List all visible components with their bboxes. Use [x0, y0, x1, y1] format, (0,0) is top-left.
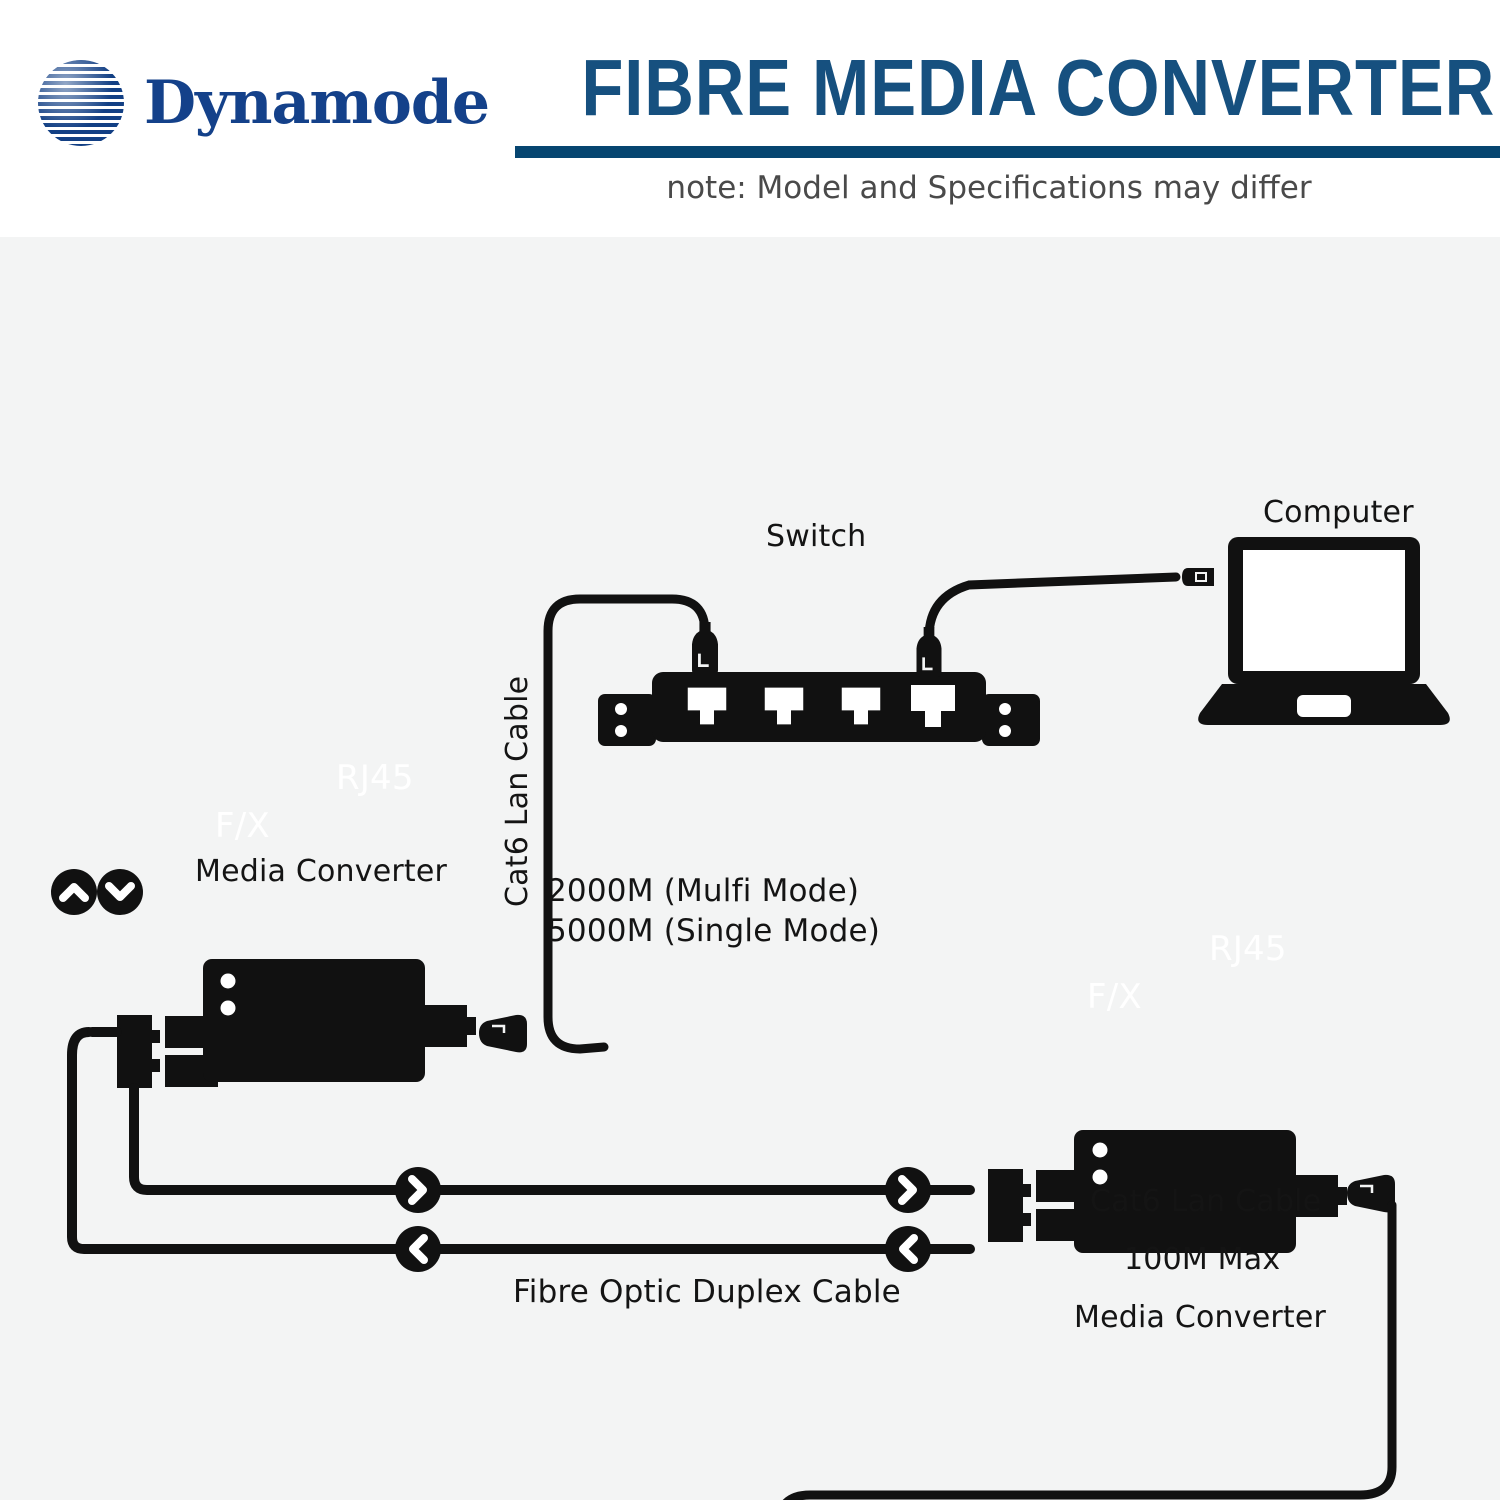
- flow-arrow-left-1: [395, 1226, 441, 1272]
- diagram-canvas: Switch Computer Cat6 Lan Cable Media Con…: [0, 237, 1500, 1500]
- title-divider: [515, 146, 1500, 158]
- lc-duplex-connector-left: [117, 1015, 160, 1088]
- rj45-plug-converter-left: [479, 1015, 527, 1052]
- label-cat6-bottom: Cat6 Lan Cable: [1090, 1184, 1321, 1219]
- label-switch-top: Switch: [766, 519, 866, 554]
- label-media-converter-right: Media Converter: [1074, 1300, 1326, 1335]
- brand-name: Dynamode: [144, 73, 489, 133]
- striped-sphere-icon: [38, 60, 124, 146]
- label-fibre-cable: Fibre Optic Duplex Cable: [513, 1274, 901, 1310]
- led-activity: [1093, 1170, 1108, 1185]
- lc-duplex-connector-right: [988, 1169, 1031, 1242]
- flow-arrow-left-2: [885, 1226, 931, 1272]
- flow-arrow-right-1: [395, 1167, 441, 1213]
- label-media-converter-left: Media Converter: [195, 854, 447, 889]
- rj45-plug-switch-top-right: [917, 627, 942, 677]
- flow-arrow-up-left: [51, 869, 97, 915]
- label-fibre-distance-single: 5000M (Single Mode): [547, 913, 880, 949]
- page-subtitle: note: Model and Specifications may diffe…: [515, 170, 1463, 206]
- led-link: [1093, 1143, 1108, 1158]
- label-fibre-distance-multi: 2000M (Mulfi Mode): [547, 873, 859, 909]
- led-activity: [221, 1001, 236, 1016]
- led-link: [221, 974, 236, 989]
- device-media-converter-left[interactable]: [117, 959, 476, 1088]
- label-cat6-bottom-max: 100M Max: [1124, 1242, 1280, 1277]
- page-header: Dynamode FIBRE MEDIA CONVERTER note: Mod…: [0, 0, 1500, 237]
- brand-logo: Dynamode: [38, 60, 489, 146]
- label-fx-left: F/X: [215, 806, 270, 846]
- flow-arrow-right-2: [885, 1167, 931, 1213]
- device-computer[interactable]: [1182, 537, 1450, 725]
- label-cat6-top: Cat6 Lan Cable: [500, 676, 535, 907]
- label-fx-right: F/X: [1087, 977, 1142, 1017]
- page-root: Dynamode FIBRE MEDIA CONVERTER note: Mod…: [0, 0, 1500, 1500]
- label-computer: Computer: [1263, 495, 1414, 530]
- flow-arrow-down-left: [97, 869, 143, 915]
- label-rj45-right: RJ45: [1209, 929, 1287, 969]
- rj45-port-stub: [425, 1005, 467, 1047]
- rj45-plug-switch-top-left: [692, 622, 718, 674]
- device-switch-top[interactable]: [598, 672, 1040, 746]
- label-rj45-left: RJ45: [336, 758, 414, 798]
- page-title: FIBRE MEDIA CONVERTER: [581, 48, 1396, 128]
